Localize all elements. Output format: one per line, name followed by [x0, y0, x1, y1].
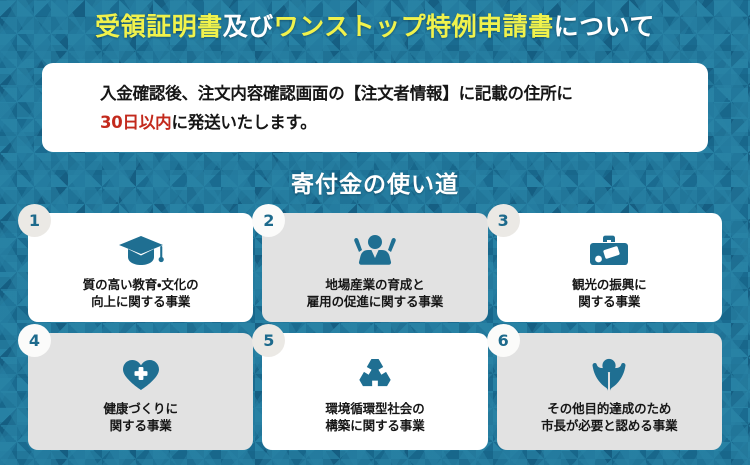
suitcase-icon: [583, 231, 635, 271]
card-number-badge-5: 5: [252, 324, 285, 357]
card-number-badge-2: 2: [252, 204, 285, 237]
title-part-4: について: [554, 12, 655, 41]
person-raised-arms-icon: [349, 231, 401, 271]
usage-card-3[interactable]: 3 観光の振興に 関する事業: [497, 213, 722, 322]
usage-card-5[interactable]: 5 環境循環型社: [262, 333, 487, 450]
usage-card-4[interactable]: 4 健康づくりに 関する事業: [28, 333, 253, 450]
usage-card-label-2-line1: 地場産業の育成と: [307, 276, 443, 293]
recycle-icon: [349, 355, 401, 395]
usage-card-label-5-line1: 環境循環型社会の: [325, 400, 424, 417]
card-number-badge-6: 6: [487, 324, 520, 357]
usage-card-label-6-line1: その他目的達成のため: [541, 400, 677, 417]
card-number-badge-3: 3: [487, 204, 520, 237]
usage-card-label-3-line1: 観光の振興に: [572, 276, 646, 293]
usage-card-label-6-line2: 市長が必要と認める事業: [541, 417, 677, 434]
page-title: 受領証明書及びワンストップ特例申請書について: [0, 11, 750, 43]
card-number-badge-4: 4: [18, 324, 51, 357]
card-number-badge-1: 1: [18, 204, 51, 237]
usage-card-grid: 1 質の高い教育・文化の 向上に関する事業 2: [28, 213, 722, 450]
usage-card-label-4: 健康づくりに 関する事業: [103, 400, 177, 434]
title-part-3: ワンストップ特例申請書: [274, 12, 554, 41]
notice-card: 入金確認後、注文内容確認画面の【注文者情報】に記載の住所に 30日以内に発送いた…: [42, 63, 708, 152]
usage-card-label-1-line1: 質の高い教育・文化の: [83, 276, 199, 293]
usage-card-1[interactable]: 1 質の高い教育・文化の 向上に関する事業: [28, 213, 253, 322]
usage-card-label-4-line2: 関する事業: [103, 417, 177, 434]
infographic-root: 受領証明書及びワンストップ特例申請書について 入金確認後、注文内容確認画面の【注…: [0, 0, 750, 465]
usage-card-label-1-line2: 向上に関する事業: [83, 293, 199, 310]
section-subtitle: 寄付金の使い道: [0, 165, 750, 199]
notice-line-2: 30日以内に発送いたします。: [100, 108, 708, 137]
usage-card-2[interactable]: 2 地場産業の育成と 雇用の促進に関する事業: [262, 213, 487, 322]
usage-card-label-6: その他目的達成のため 市長が必要と認める事業: [541, 400, 677, 434]
usage-card-label-3: 観光の振興に 関する事業: [572, 276, 646, 310]
usage-card-6[interactable]: 6 その他目的達成のため 市長が必要と認める事業: [497, 333, 722, 450]
notice-deadline-text: 30日以内: [100, 113, 171, 132]
title-part-1: 受領証明書: [95, 12, 223, 41]
usage-card-label-2: 地場産業の育成と 雇用の促進に関する事業: [307, 276, 443, 310]
usage-card-label-2-line2: 雇用の促進に関する事業: [307, 293, 443, 310]
usage-card-label-4-line1: 健康づくりに: [103, 400, 177, 417]
usage-card-label-3-line2: 関する事業: [572, 293, 646, 310]
usage-card-label-5: 環境循環型社会の 構築に関する事業: [325, 400, 424, 434]
usage-card-label-1: 質の高い教育・文化の 向上に関する事業: [83, 276, 199, 310]
heart-plus-icon: [115, 355, 167, 395]
usage-card-label-5-line2: 構築に関する事業: [325, 417, 424, 434]
notice-line-1: 入金確認後、注文内容確認画面の【注文者情報】に記載の住所に: [100, 79, 708, 108]
graduation-cap-icon: [115, 231, 167, 271]
title-part-2: 及び: [223, 12, 274, 41]
notice-line-2-rest: に発送いたします。: [171, 113, 316, 132]
person-in-hands-icon: [583, 355, 635, 395]
